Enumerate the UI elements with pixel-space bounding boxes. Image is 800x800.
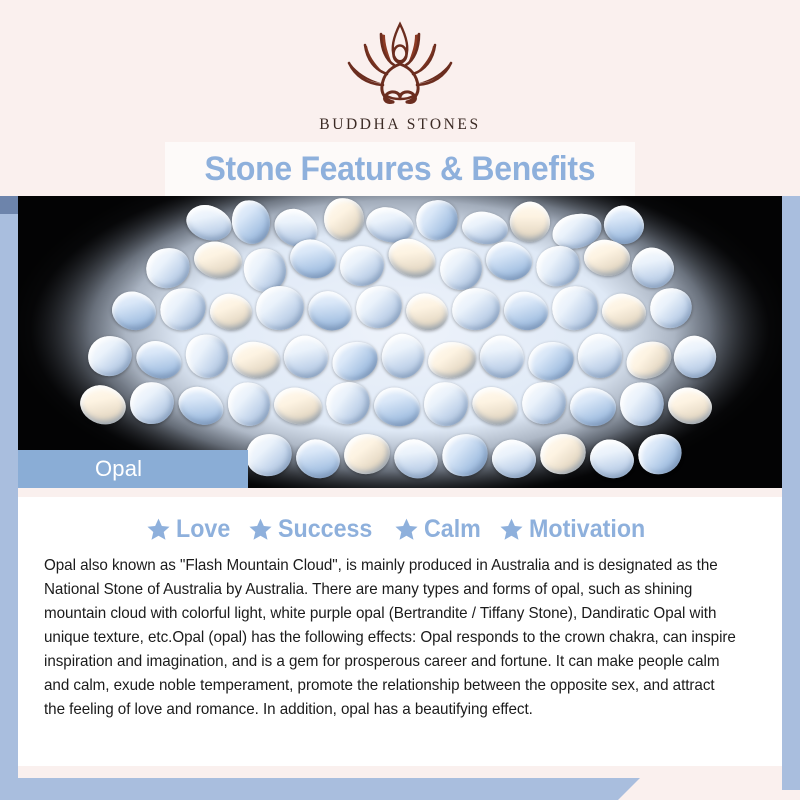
hero-stones bbox=[18, 196, 782, 488]
lotus-meditation-icon bbox=[341, 18, 459, 114]
brand-logo: BUDDHA STONES bbox=[0, 18, 800, 134]
benefit-item: Success bbox=[248, 515, 379, 544]
benefit-label: Calm bbox=[424, 515, 481, 544]
benefit-item: Calm bbox=[394, 515, 485, 544]
stone-description: Opal also known as "Flash Mountain Cloud… bbox=[44, 554, 738, 722]
benefit-item: Motivation bbox=[499, 515, 654, 544]
page-title: Stone Features & Benefits bbox=[205, 150, 596, 189]
star-icon bbox=[248, 517, 273, 542]
stone-name-bar: Opal bbox=[18, 450, 248, 488]
product-infographic: BUDDHA STONES Stone Features & Benefits bbox=[0, 0, 800, 800]
title-banner: Stone Features & Benefits bbox=[165, 142, 635, 196]
stone-name-label: Opal bbox=[95, 456, 142, 482]
benefit-label: Love bbox=[176, 515, 230, 544]
header: BUDDHA STONES Stone Features & Benefits bbox=[0, 0, 800, 196]
benefit-label: Success bbox=[278, 515, 372, 544]
benefit-label: Motivation bbox=[529, 515, 645, 544]
decorative-band-bottom bbox=[0, 778, 640, 800]
decorative-corner-notch bbox=[0, 196, 18, 214]
brand-name: BUDDHA STONES bbox=[0, 116, 800, 134]
star-icon bbox=[394, 517, 419, 542]
content-top-strip bbox=[18, 488, 782, 497]
benefit-item: Love bbox=[146, 515, 234, 544]
decorative-band-left bbox=[0, 196, 18, 800]
star-icon bbox=[146, 517, 171, 542]
content-card: Love Success Calm Motivation O bbox=[18, 488, 782, 766]
star-icon bbox=[499, 517, 524, 542]
hero-image bbox=[18, 196, 782, 488]
